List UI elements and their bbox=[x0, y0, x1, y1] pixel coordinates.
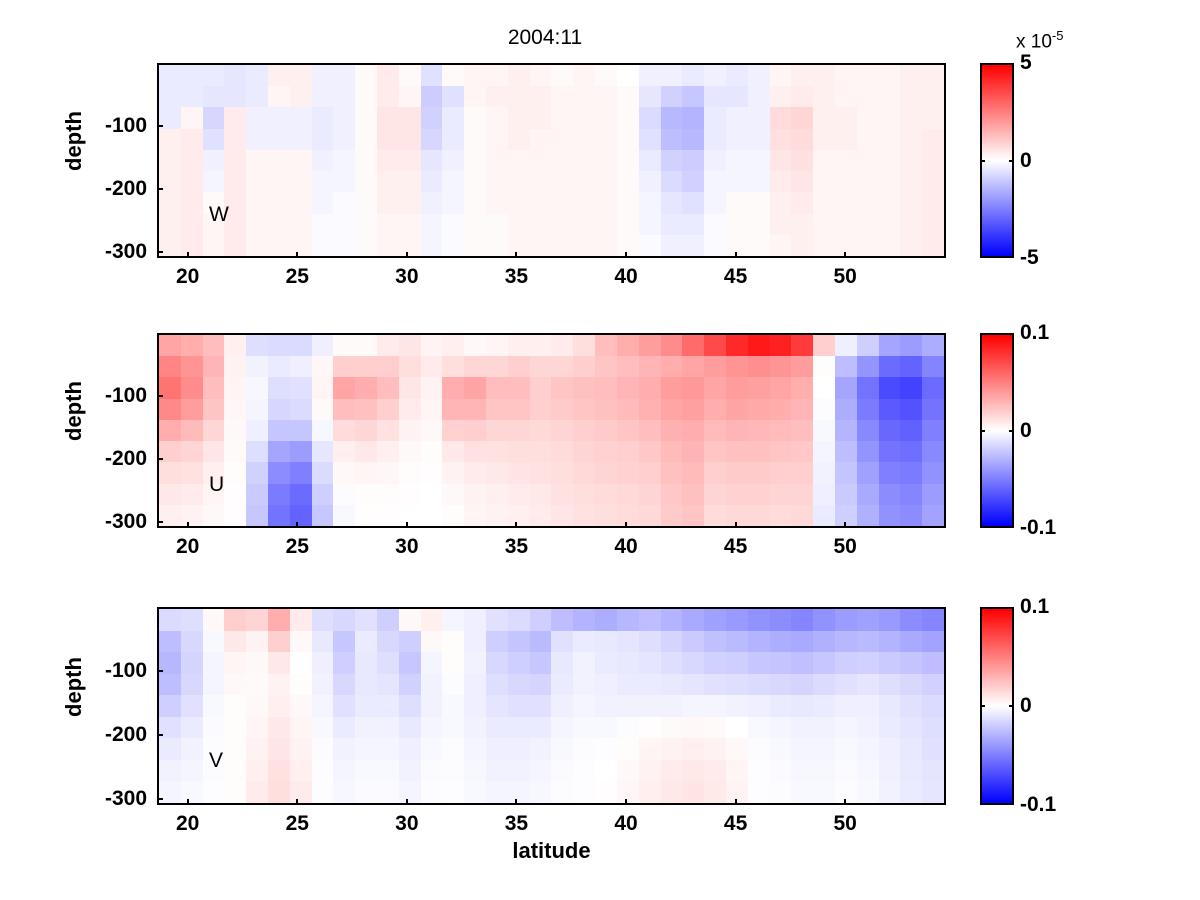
heatmap-cell bbox=[661, 420, 683, 441]
heatmap-cell bbox=[551, 356, 573, 377]
heatmap-cell bbox=[399, 214, 421, 235]
heatmap-cell bbox=[661, 235, 683, 256]
heatmap-cell bbox=[595, 674, 617, 696]
heatmap-cell bbox=[682, 377, 704, 398]
heatmap-cell bbox=[595, 129, 617, 150]
heatmap-cell bbox=[464, 171, 486, 192]
heatmap-cell bbox=[551, 377, 573, 398]
heatmap-cell bbox=[442, 781, 464, 803]
ytick-label-u: -100 bbox=[55, 384, 147, 408]
heatmap-cell bbox=[530, 192, 552, 213]
heatmap-cell bbox=[333, 484, 355, 505]
heatmap-cell bbox=[224, 484, 246, 505]
heatmap-cell bbox=[573, 150, 595, 171]
heatmap-cell bbox=[290, 781, 312, 803]
heatmap-cell bbox=[857, 505, 879, 526]
heatmap-cell bbox=[333, 609, 355, 631]
heatmap-cell bbox=[421, 717, 443, 739]
heatmap-cell bbox=[661, 462, 683, 483]
heatmap-cell bbox=[573, 505, 595, 526]
xtick-label-v: 45 bbox=[724, 812, 747, 836]
heatmap-cell bbox=[333, 107, 355, 128]
heatmap-cell bbox=[203, 399, 225, 420]
heatmap-cell bbox=[399, 441, 421, 462]
heatmap-cell bbox=[661, 505, 683, 526]
heatmap-cell bbox=[813, 462, 835, 483]
heatmap-cell bbox=[900, 609, 922, 631]
heatmap-cell bbox=[770, 235, 792, 256]
heatmap-cell bbox=[661, 214, 683, 235]
heatmap-cell bbox=[290, 674, 312, 696]
heatmap-cell bbox=[617, 441, 639, 462]
heatmap-cell bbox=[224, 171, 246, 192]
heatmap-cell bbox=[399, 695, 421, 717]
heatmap-cell bbox=[595, 335, 617, 356]
heatmap-cell bbox=[922, 65, 944, 86]
heatmap-cell bbox=[355, 674, 377, 696]
colorbar-tick-mark-v bbox=[1009, 705, 1014, 707]
heatmap-cell bbox=[857, 462, 879, 483]
heatmap-cell bbox=[857, 107, 879, 128]
heatmap-cell bbox=[813, 781, 835, 803]
heatmap-cell bbox=[770, 335, 792, 356]
heatmap-cell bbox=[748, 86, 770, 107]
heatmap-cell bbox=[661, 192, 683, 213]
heatmap-cell bbox=[661, 609, 683, 631]
heatmap-cell bbox=[246, 86, 268, 107]
heatmap-cell bbox=[268, 760, 290, 782]
heatmap-cell bbox=[224, 214, 246, 235]
heatmap-cell bbox=[355, 399, 377, 420]
heatmap-cell bbox=[770, 781, 792, 803]
heatmap-cell bbox=[551, 484, 573, 505]
heatmap-cell bbox=[159, 484, 181, 505]
heatmap-cell bbox=[791, 377, 813, 398]
heatmap-cell bbox=[224, 107, 246, 128]
heatmap-cell bbox=[551, 86, 573, 107]
heatmap-cell bbox=[203, 717, 225, 739]
heatmap-cell bbox=[791, 150, 813, 171]
heatmap-cell bbox=[813, 609, 835, 631]
heatmap-cell bbox=[333, 760, 355, 782]
heatmap-cell bbox=[486, 356, 508, 377]
heatmap-cell bbox=[791, 484, 813, 505]
heatmap-cell bbox=[748, 760, 770, 782]
heatmap-cell bbox=[639, 399, 661, 420]
heatmap-cell bbox=[377, 462, 399, 483]
heatmap-cell bbox=[508, 420, 530, 441]
heatmap-cell bbox=[246, 356, 268, 377]
figure-title: 2004:11 bbox=[0, 26, 1090, 50]
heatmap-cell bbox=[399, 377, 421, 398]
heatmap-cell bbox=[791, 738, 813, 760]
heatmap-cell bbox=[530, 717, 552, 739]
heatmap-cell bbox=[333, 214, 355, 235]
heatmap-cell bbox=[224, 505, 246, 526]
heatmap-cell bbox=[573, 781, 595, 803]
heatmap-cell bbox=[312, 65, 334, 86]
heatmap-cell bbox=[312, 107, 334, 128]
heatmap-cell bbox=[879, 505, 901, 526]
heatmap-cell bbox=[857, 214, 879, 235]
heatmap-cell bbox=[682, 674, 704, 696]
heatmap-cell bbox=[333, 129, 355, 150]
heatmap-cell bbox=[159, 235, 181, 256]
heatmap-cell bbox=[268, 399, 290, 420]
heatmap-cell bbox=[551, 717, 573, 739]
heatmap-cell bbox=[879, 214, 901, 235]
heatmap-cell bbox=[508, 781, 530, 803]
heatmap-cell bbox=[421, 150, 443, 171]
heatmap-cell bbox=[355, 235, 377, 256]
heatmap-cell bbox=[224, 129, 246, 150]
heatmap-cell bbox=[748, 107, 770, 128]
heatmap-cell bbox=[246, 738, 268, 760]
heatmap-cell bbox=[922, 652, 944, 674]
heatmap-cell bbox=[203, 107, 225, 128]
heatmap-cell bbox=[900, 760, 922, 782]
xtick-label-u: 50 bbox=[833, 535, 856, 559]
heatmap-cell bbox=[377, 335, 399, 356]
heatmap-cell bbox=[661, 717, 683, 739]
heatmap-cell bbox=[748, 505, 770, 526]
ytick-mark-u bbox=[157, 458, 163, 460]
heatmap-cell bbox=[530, 631, 552, 653]
ytick-mark-w bbox=[157, 125, 163, 127]
heatmap-cell bbox=[442, 335, 464, 356]
heatmap-cell bbox=[704, 356, 726, 377]
heatmap-cell bbox=[879, 399, 901, 420]
heatmap-cell bbox=[573, 377, 595, 398]
heatmap-cell bbox=[224, 781, 246, 803]
heatmap-cell bbox=[442, 420, 464, 441]
heatmap-cell bbox=[726, 695, 748, 717]
heatmap-cell bbox=[333, 674, 355, 696]
heatmap-cell bbox=[442, 505, 464, 526]
heatmap-cell bbox=[399, 505, 421, 526]
heatmap-cell bbox=[246, 760, 268, 782]
heatmap-cell bbox=[421, 462, 443, 483]
heatmap-cell bbox=[748, 192, 770, 213]
colorbar-exponent-prefix-w: x 10 bbox=[1016, 31, 1052, 52]
heatmap-cell bbox=[355, 695, 377, 717]
heatmap-cell bbox=[900, 674, 922, 696]
ytick-mark-v bbox=[157, 670, 163, 672]
heatmap-cell bbox=[246, 781, 268, 803]
heatmap-cell bbox=[922, 107, 944, 128]
heatmap-cell bbox=[682, 695, 704, 717]
heatmap-cell bbox=[159, 505, 181, 526]
heatmap-cell bbox=[922, 129, 944, 150]
heatmap-cell bbox=[813, 335, 835, 356]
heatmap-cell bbox=[181, 171, 203, 192]
heatmap-cell bbox=[377, 171, 399, 192]
heatmap-cell bbox=[399, 609, 421, 631]
heatmap-cell bbox=[224, 86, 246, 107]
heatmap-cell bbox=[791, 129, 813, 150]
heatmap-cell bbox=[464, 235, 486, 256]
heatmap-cell bbox=[595, 695, 617, 717]
heatmap-cell bbox=[290, 399, 312, 420]
heatmap-cell bbox=[464, 399, 486, 420]
heatmap-cell bbox=[682, 65, 704, 86]
heatmap-cell bbox=[442, 150, 464, 171]
heatmap-cell bbox=[203, 150, 225, 171]
colorbar-exponent-value-w: -5 bbox=[1052, 28, 1064, 43]
heatmap-cell bbox=[748, 738, 770, 760]
heatmap-cell bbox=[857, 760, 879, 782]
heatmap-cell bbox=[748, 65, 770, 86]
heatmap-cell bbox=[377, 781, 399, 803]
heatmap-cell bbox=[704, 717, 726, 739]
heatmap-cell bbox=[421, 214, 443, 235]
colorbar-tick-label-u: 0 bbox=[1020, 419, 1032, 443]
heatmap-cell bbox=[682, 441, 704, 462]
heatmap-cell bbox=[726, 717, 748, 739]
heatmap-cell bbox=[377, 192, 399, 213]
heatmap-cell bbox=[704, 235, 726, 256]
heatmap-cell bbox=[421, 609, 443, 631]
heatmap-cell bbox=[377, 214, 399, 235]
heatmap-cell bbox=[682, 652, 704, 674]
heatmap-cell bbox=[246, 695, 268, 717]
heatmap-cell bbox=[835, 399, 857, 420]
heatmap-cell bbox=[224, 356, 246, 377]
heatmap-cell bbox=[464, 356, 486, 377]
heatmap-cell bbox=[399, 674, 421, 696]
heatmap-cell bbox=[726, 420, 748, 441]
heatmap-cell bbox=[682, 399, 704, 420]
heatmap-cell bbox=[748, 695, 770, 717]
heatmap-cell bbox=[312, 420, 334, 441]
heatmap-cell bbox=[333, 631, 355, 653]
heatmap-cell bbox=[835, 760, 857, 782]
heatmap-cell bbox=[290, 420, 312, 441]
heatmap-cell bbox=[791, 420, 813, 441]
heatmap-cell bbox=[530, 171, 552, 192]
heatmap-cell bbox=[595, 399, 617, 420]
heatmap-cell bbox=[159, 129, 181, 150]
heatmap-cell bbox=[224, 377, 246, 398]
heatmap-cell bbox=[900, 462, 922, 483]
heatmap-cell bbox=[508, 214, 530, 235]
heatmap-cell bbox=[486, 150, 508, 171]
heatmap-cell bbox=[464, 377, 486, 398]
heatmap-cell bbox=[551, 171, 573, 192]
heatmap-cell bbox=[617, 652, 639, 674]
heatmap-cell bbox=[508, 107, 530, 128]
heatmap-cell bbox=[770, 674, 792, 696]
heatmap-cell bbox=[159, 86, 181, 107]
heatmap-cell bbox=[377, 399, 399, 420]
heatmap-cell bbox=[726, 86, 748, 107]
heatmap-cell bbox=[835, 738, 857, 760]
heatmap-cell bbox=[464, 335, 486, 356]
heatmap-cell bbox=[595, 505, 617, 526]
heatmap-cell bbox=[464, 150, 486, 171]
heatmap-cell bbox=[268, 65, 290, 86]
heatmap-cell bbox=[879, 356, 901, 377]
heatmap-cell bbox=[682, 738, 704, 760]
heatmap-cell bbox=[421, 107, 443, 128]
heatmap-cell bbox=[748, 674, 770, 696]
heatmap-cell bbox=[508, 377, 530, 398]
heatmap-cell bbox=[290, 192, 312, 213]
ytick-label-v: -100 bbox=[55, 659, 147, 683]
xtick-label-w: 40 bbox=[614, 265, 637, 289]
heatmap-cell bbox=[399, 107, 421, 128]
heatmap-cell bbox=[835, 717, 857, 739]
heatmap-cell bbox=[290, 695, 312, 717]
heatmap-cell bbox=[922, 420, 944, 441]
heatmap-cell bbox=[617, 609, 639, 631]
heatmap-cell bbox=[573, 214, 595, 235]
heatmap-cell bbox=[770, 171, 792, 192]
colorbar-tick-label-u: 0.1 bbox=[1020, 321, 1049, 345]
ytick-label-v: -300 bbox=[55, 787, 147, 811]
heatmap-cell bbox=[246, 462, 268, 483]
heatmap-cell bbox=[486, 505, 508, 526]
heatmap-cell bbox=[268, 738, 290, 760]
heatmap-cell bbox=[661, 631, 683, 653]
heatmap-cell bbox=[639, 150, 661, 171]
heatmap-cell bbox=[508, 609, 530, 631]
heatmap-cell bbox=[508, 674, 530, 696]
heatmap-cell bbox=[857, 356, 879, 377]
heatmap-cell bbox=[551, 505, 573, 526]
heatmap-cell bbox=[159, 65, 181, 86]
heatmap-cell bbox=[464, 484, 486, 505]
heatmap-cell bbox=[726, 609, 748, 631]
xtick-mark-u bbox=[625, 522, 627, 528]
heatmap-cell bbox=[879, 484, 901, 505]
heatmap-cell bbox=[748, 235, 770, 256]
heatmap-cell bbox=[639, 377, 661, 398]
heatmap-cell bbox=[595, 652, 617, 674]
heatmap-w bbox=[159, 65, 944, 256]
heatmap-cell bbox=[203, 760, 225, 782]
heatmap-cell bbox=[857, 484, 879, 505]
heatmap-cell bbox=[181, 484, 203, 505]
heatmap-cell bbox=[835, 652, 857, 674]
heatmap-cell bbox=[573, 235, 595, 256]
heatmap-cell bbox=[922, 462, 944, 483]
heatmap-cell bbox=[813, 420, 835, 441]
heatmap-cell bbox=[224, 695, 246, 717]
heatmap-cell bbox=[377, 377, 399, 398]
heatmap-cell bbox=[333, 695, 355, 717]
heatmap-cell bbox=[442, 65, 464, 86]
heatmap-cell bbox=[312, 760, 334, 782]
heatmap-cell bbox=[900, 420, 922, 441]
heatmap-cell bbox=[617, 738, 639, 760]
heatmap-cell bbox=[617, 214, 639, 235]
heatmap-cell bbox=[312, 192, 334, 213]
heatmap-cell bbox=[639, 717, 661, 739]
heatmap-cell bbox=[268, 609, 290, 631]
heatmap-cell bbox=[879, 609, 901, 631]
heatmap-cell bbox=[333, 86, 355, 107]
xtick-mark-v bbox=[625, 799, 627, 805]
heatmap-cell bbox=[922, 150, 944, 171]
heatmap-cell bbox=[268, 171, 290, 192]
heatmap-cell bbox=[399, 356, 421, 377]
heatmap-cell bbox=[246, 377, 268, 398]
heatmap-cell bbox=[617, 760, 639, 782]
heatmap-cell bbox=[442, 717, 464, 739]
heatmap-cell bbox=[573, 674, 595, 696]
heatmap-cell bbox=[246, 674, 268, 696]
heatmap-cell bbox=[770, 462, 792, 483]
heatmap-cell bbox=[421, 505, 443, 526]
heatmap-cell bbox=[377, 717, 399, 739]
heatmap-cell bbox=[246, 609, 268, 631]
heatmap-cell bbox=[639, 86, 661, 107]
heatmap-cell bbox=[486, 609, 508, 631]
heatmap-cell bbox=[508, 760, 530, 782]
heatmap-cell bbox=[246, 631, 268, 653]
heatmap-cell bbox=[377, 150, 399, 171]
heatmap-cell bbox=[377, 441, 399, 462]
heatmap-cell bbox=[421, 631, 443, 653]
heatmap-cell bbox=[508, 462, 530, 483]
heatmap-cell bbox=[442, 609, 464, 631]
heatmap-cell bbox=[922, 505, 944, 526]
xtick-mark-v bbox=[735, 799, 737, 805]
heatmap-cell bbox=[159, 674, 181, 696]
heatmap-cell bbox=[639, 609, 661, 631]
heatmap-cell bbox=[399, 738, 421, 760]
heatmap-cell bbox=[486, 738, 508, 760]
heatmap-cell bbox=[312, 652, 334, 674]
heatmap-cell bbox=[639, 738, 661, 760]
heatmap-cell bbox=[246, 192, 268, 213]
heatmap-cell bbox=[442, 760, 464, 782]
heatmap-cell bbox=[682, 214, 704, 235]
heatmap-cell bbox=[508, 484, 530, 505]
heatmap-cell bbox=[813, 171, 835, 192]
heatmap-cell bbox=[246, 652, 268, 674]
heatmap-cell bbox=[312, 214, 334, 235]
heatmap-cell bbox=[551, 235, 573, 256]
heatmap-cell bbox=[442, 235, 464, 256]
heatmap-cell bbox=[268, 484, 290, 505]
heatmap-cell bbox=[726, 781, 748, 803]
heatmap-cell bbox=[573, 462, 595, 483]
heatmap-cell bbox=[203, 129, 225, 150]
heatmap-cell bbox=[421, 65, 443, 86]
heatmap-cell bbox=[530, 129, 552, 150]
heatmap-cell bbox=[181, 192, 203, 213]
heatmap-cell bbox=[748, 652, 770, 674]
heatmap-cell bbox=[399, 399, 421, 420]
heatmap-cell bbox=[835, 420, 857, 441]
heatmap-cell bbox=[224, 462, 246, 483]
colorbar-tick-label-w: -5 bbox=[1020, 246, 1039, 270]
heatmap-cell bbox=[399, 65, 421, 86]
xtick-label-v: 25 bbox=[286, 812, 309, 836]
heatmap-cell bbox=[508, 631, 530, 653]
heatmap-cell bbox=[835, 171, 857, 192]
heatmap-cell bbox=[900, 150, 922, 171]
panel-u: U bbox=[157, 333, 946, 528]
heatmap-cell bbox=[879, 420, 901, 441]
heatmap-cell bbox=[486, 484, 508, 505]
heatmap-cell bbox=[268, 631, 290, 653]
heatmap-cell bbox=[355, 652, 377, 674]
heatmap-cell bbox=[333, 781, 355, 803]
heatmap-cell bbox=[791, 760, 813, 782]
